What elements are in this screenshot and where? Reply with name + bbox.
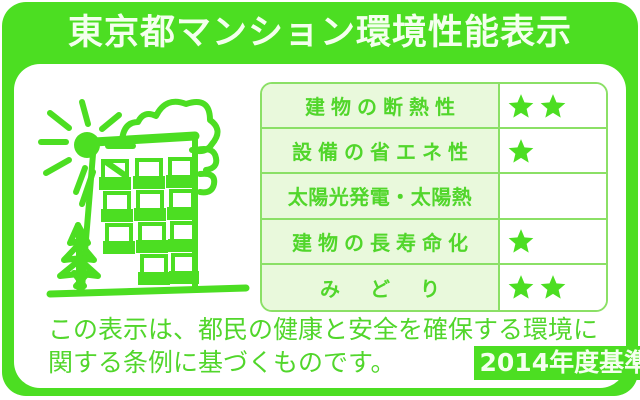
rating-stars-greenery — [500, 265, 606, 310]
rating-stars-energy-saving — [500, 129, 606, 172]
footer-note: この表示は、都民の健康と安全を確保する環境に 関する条例に基づくものです。 20… — [48, 314, 608, 380]
rating-stars-insulation — [500, 84, 606, 127]
table-row: 太陽光発電・太陽熱 — [262, 174, 606, 219]
star-icon — [508, 274, 534, 300]
standard-year-badge: 2014年度基準 — [474, 346, 640, 380]
star-icon — [540, 93, 566, 119]
footer-line-1: この表示は、都民の健康と安全を確保する環境に — [48, 314, 608, 346]
footer-line-2-row: 関する条例に基づくものです。 2014年度基準 — [48, 346, 608, 380]
content-panel: 建物の断熱性 設備の省エネ性 太陽光発電・太陽熱 建物の長寿命化 — [14, 64, 626, 388]
star-icon — [508, 228, 534, 254]
page-title: 東京都マンション環境性能表示 — [2, 10, 638, 56]
rating-stars-longevity — [500, 220, 606, 263]
rating-label-insulation: 建物の断熱性 — [262, 84, 500, 127]
footer-line-2: 関する条例に基づくものです。 — [48, 347, 396, 379]
rating-label-greenery: みどり — [262, 265, 500, 310]
building-windows — [101, 159, 197, 283]
star-icon — [540, 274, 566, 300]
rating-label-solar: 太陽光発電・太陽熱 — [262, 174, 500, 217]
star-icon — [508, 138, 534, 164]
eco-apartment-illustration — [36, 80, 264, 310]
environment-performance-label-card: 東京都マンション環境性能表示 — [2, 2, 638, 396]
rating-label-energy-saving: 設備の省エネ性 — [262, 129, 500, 172]
ratings-table: 建物の断熱性 設備の省エネ性 太陽光発電・太陽熱 建物の長寿命化 — [260, 82, 608, 312]
tree-icon — [60, 225, 98, 288]
star-icon — [508, 93, 534, 119]
rating-stars-solar — [500, 174, 606, 217]
table-row: みどり — [262, 265, 606, 310]
rating-label-longevity: 建物の長寿命化 — [262, 220, 500, 263]
table-row: 設備の省エネ性 — [262, 129, 606, 174]
table-row: 建物の断熱性 — [262, 84, 606, 129]
table-row: 建物の長寿命化 — [262, 220, 606, 265]
